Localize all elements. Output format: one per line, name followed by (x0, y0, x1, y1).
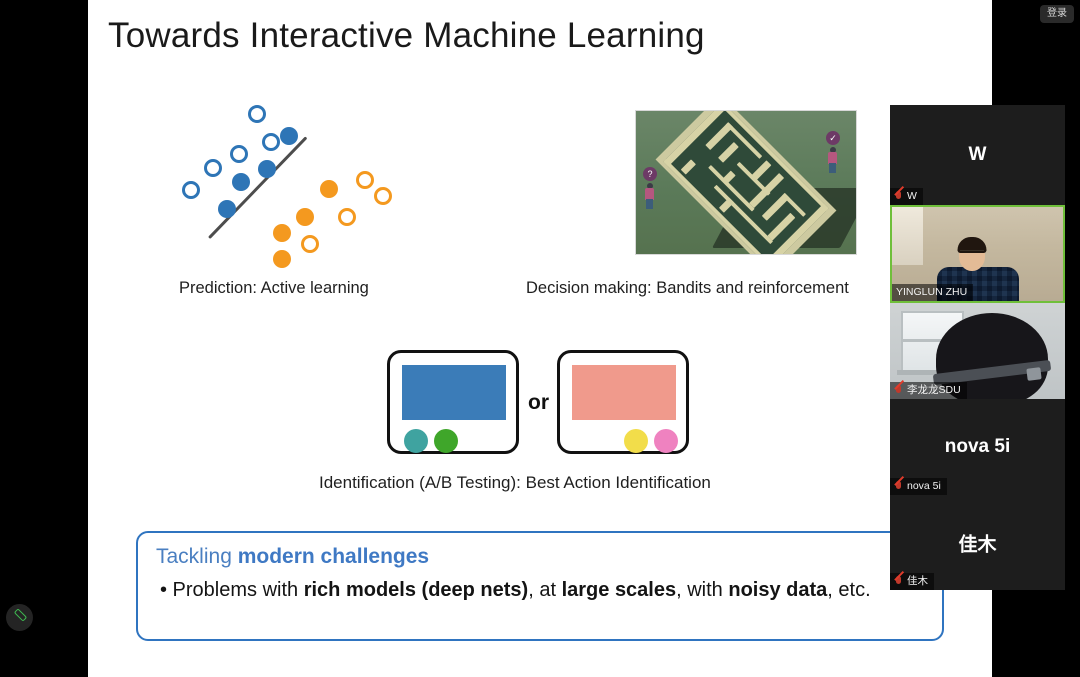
question-bubble-icon: ? (643, 167, 657, 181)
scatter-point (218, 200, 236, 218)
participant-tile[interactable]: 佳木佳木 (890, 495, 1065, 590)
challenges-callout: Tackling modern challenges • Problems wi… (136, 531, 944, 641)
slide-title: Towards Interactive Machine Learning (108, 16, 705, 56)
bullet-bold-2: large scales (562, 579, 677, 601)
shared-slide: Towards Interactive Machine Learning (88, 0, 992, 677)
pencil-icon (13, 611, 27, 625)
variant-a-banner (402, 365, 506, 420)
variant-a-dot-2 (434, 429, 458, 453)
bullet-bold-1: rich models (deep nets) (304, 579, 529, 601)
bullet-bold-3: noisy data (728, 579, 827, 601)
participant-name-bar: nova 5i (890, 478, 947, 495)
participant-name: nova 5i (907, 478, 941, 495)
variant-b-dot-2 (654, 429, 678, 453)
bullet-mid-2: , with (676, 579, 728, 601)
mic-muted-icon (894, 481, 903, 493)
scatter-point (374, 187, 392, 205)
participant-tile[interactable]: WW (890, 105, 1065, 205)
variant-b-dot-1 (624, 429, 648, 453)
check-bubble-icon: ✓ (826, 131, 840, 145)
mic-muted-icon (894, 576, 903, 588)
mic-muted-icon (894, 191, 903, 203)
scatter-point (273, 224, 291, 242)
scatter-point (320, 180, 338, 198)
or-label: or (528, 391, 549, 415)
participant-tile[interactable]: 李龙龙SDU (890, 303, 1065, 399)
scatter-point (356, 171, 374, 189)
participant-tile[interactable]: nova 5inova 5i (890, 399, 1065, 495)
callout-bullet: • Problems with rich models (deep nets),… (160, 579, 871, 602)
scatter-point (273, 250, 291, 268)
callout-heading-bold: modern challenges (238, 545, 429, 568)
mic-muted-icon (894, 385, 903, 397)
bullet-mid-1: , at (528, 579, 561, 601)
participant-name: YINGLUN ZHU (896, 284, 967, 301)
callout-heading: Tackling modern challenges (156, 545, 429, 569)
scatter-point (338, 208, 356, 226)
login-button[interactable]: 登录 (1040, 5, 1074, 23)
scatter-point (248, 105, 266, 123)
participant-initial: 佳木 (890, 529, 1065, 556)
scatter-point (301, 235, 319, 253)
participant-initial: W (890, 144, 1065, 166)
ab-variant-a-card (387, 350, 519, 454)
participant-name: 李龙龙SDU (907, 382, 961, 399)
scatter-point (182, 181, 200, 199)
caption-prediction: Prediction: Active learning (179, 279, 369, 298)
active-learning-scatter-diagram (170, 95, 410, 270)
participant-name-bar: 佳木 (890, 573, 934, 590)
caption-identification: Identification (A/B Testing): Best Actio… (319, 473, 711, 493)
bullet-prefix: • Problems with (160, 579, 304, 601)
scatter-point (280, 127, 298, 145)
participant-tile[interactable]: YINGLUN ZHU (890, 205, 1065, 303)
scatter-point (262, 133, 280, 151)
scatter-point (230, 145, 248, 163)
scatter-point (204, 159, 222, 177)
participant-name-bar: 李龙龙SDU (890, 382, 967, 399)
participant-name: W (907, 188, 917, 205)
decision-boundary-line (208, 136, 308, 239)
ab-variant-b-card (557, 350, 689, 454)
participant-name: 佳木 (907, 573, 928, 590)
meeting-screen: Towards Interactive Machine Learning (0, 0, 1080, 677)
variant-b-banner (572, 365, 676, 420)
participant-initial: nova 5i (890, 436, 1065, 458)
caption-decision: Decision making: Bandits and reinforceme… (526, 279, 849, 298)
scatter-point (296, 208, 314, 226)
callout-heading-plain: Tackling (156, 545, 238, 568)
maze-illustration: ? ✓ (635, 110, 857, 255)
scatter-point (258, 160, 276, 178)
maze-person-start (645, 183, 654, 209)
participant-filmstrip[interactable]: WWYINGLUN ZHU李龙龙SDUnova 5inova 5i佳木佳木 (890, 105, 1065, 590)
bullet-suffix: , etc. (827, 579, 870, 601)
participant-name-bar: W (890, 188, 923, 205)
scatter-point (232, 173, 250, 191)
participant-name-bar: YINGLUN ZHU (892, 284, 973, 301)
annotate-button[interactable] (6, 604, 33, 631)
variant-a-dot-1 (404, 429, 428, 453)
maze-person-goal (828, 147, 837, 173)
